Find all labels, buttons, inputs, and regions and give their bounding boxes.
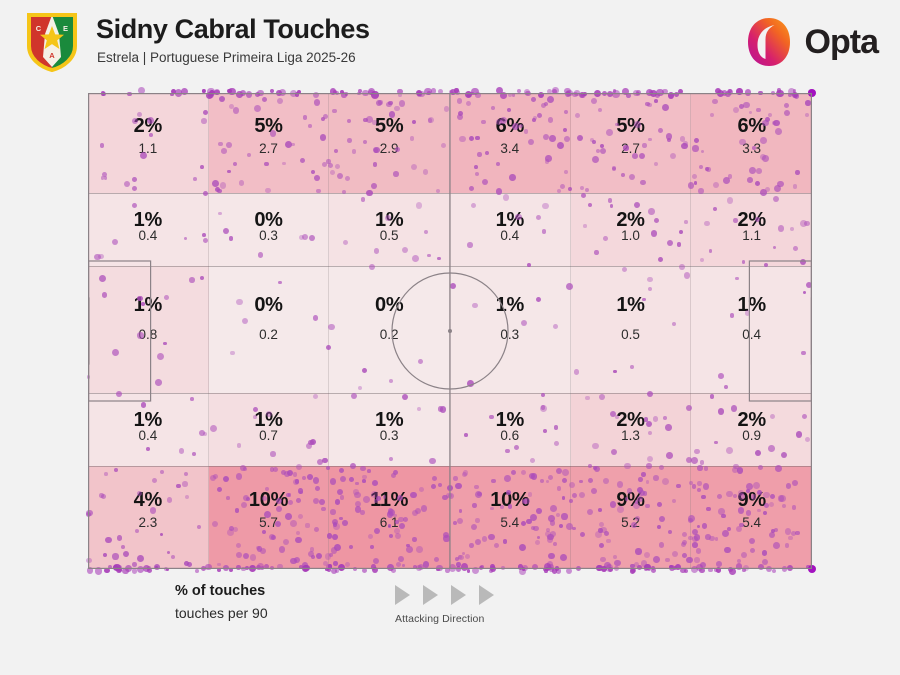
zone-percent: 9% — [691, 489, 812, 512]
zone-per90: 2.9 — [329, 141, 449, 156]
zone-per90: 5.4 — [450, 515, 570, 530]
zone-cell: 5%2.7 — [209, 93, 330, 193]
touch-dot — [552, 568, 557, 573]
zone-per90: 0.3 — [329, 428, 449, 443]
zone-percent: 10% — [450, 489, 570, 512]
zone-per90: 5.4 — [691, 515, 812, 530]
touch-map-infographic: C E A Sidny Cabral Touches Estrela | Por… — [0, 0, 900, 675]
svg-text:C: C — [36, 24, 42, 33]
zone-percent: 1% — [691, 294, 812, 317]
zone-cell: 2%1.0 — [571, 193, 692, 266]
zone-cell: 1%0.6 — [450, 393, 571, 466]
zone-per90: 2.7 — [209, 141, 329, 156]
touch-dot — [684, 569, 688, 573]
zone-percent: 6% — [691, 115, 812, 138]
zone-per90: 6.1 — [329, 515, 449, 530]
zone-cell: 2%0.9 — [691, 393, 812, 466]
zone-cell: 9%5.4 — [691, 466, 812, 569]
zone-per90: 3.3 — [691, 141, 812, 156]
zone-cell: 2%1.1 — [88, 93, 209, 193]
zone-percent: 0% — [329, 294, 449, 317]
attacking-direction: Attacking Direction — [395, 585, 595, 625]
pitch-heatmap: 2%1.15%2.75%2.96%3.45%2.76%3.31%0.40%0.3… — [88, 93, 812, 569]
zone-cell: 1%0.4 — [691, 266, 812, 393]
page-subtitle: Estrela | Portuguese Primeira Liga 2025-… — [97, 50, 356, 65]
svg-text:E: E — [63, 24, 68, 33]
zone-per90: 2.3 — [88, 515, 208, 530]
svg-text:A: A — [49, 51, 55, 60]
touch-dot — [772, 569, 776, 573]
touch-dot — [556, 568, 561, 573]
opta-wordmark: Opta — [805, 23, 878, 62]
header: C E A Sidny Cabral Touches Estrela | Por… — [0, 0, 900, 88]
zone-percent: 1% — [88, 294, 208, 317]
zone-percent: 9% — [571, 489, 691, 512]
zone-per90: 0.6 — [450, 428, 570, 443]
zone-row-divider — [88, 466, 812, 467]
zone-cell: 0%0.2 — [329, 266, 450, 393]
zone-percent: 5% — [571, 115, 691, 138]
touch-dot — [777, 88, 781, 92]
touch-dot — [519, 568, 526, 575]
zone-cell: 2%1.3 — [571, 393, 692, 466]
arrow-right-icon — [395, 585, 410, 605]
zone-percent: 5% — [209, 115, 329, 138]
arrow-right-icon — [451, 585, 466, 605]
zone-percent: 6% — [450, 115, 570, 138]
arrow-right-icon — [479, 585, 494, 605]
zone-cell: 0%0.2 — [209, 266, 330, 393]
zone-per90: 0.4 — [450, 228, 570, 243]
zone-per90: 0.4 — [88, 428, 208, 443]
zone-row-divider — [88, 266, 812, 267]
zone-per90: 0.4 — [88, 228, 208, 243]
zone-cell: 1%0.5 — [329, 193, 450, 266]
zone-cell: 0%0.3 — [209, 193, 330, 266]
touch-dot — [489, 569, 493, 573]
touch-dot — [544, 569, 548, 573]
zone-per90: 2.7 — [571, 141, 691, 156]
zone-cell: 4%2.3 — [88, 466, 209, 569]
zone-cell: 1%0.4 — [88, 193, 209, 266]
club-crest-icon: C E A — [26, 12, 78, 72]
zone-cell: 5%2.9 — [329, 93, 450, 193]
zone-cell: 1%0.4 — [88, 393, 209, 466]
zone-percent: 10% — [209, 489, 329, 512]
touch-dot — [202, 89, 206, 93]
zone-cell: 6%3.4 — [450, 93, 571, 193]
touch-dot — [445, 568, 449, 572]
zone-percent: 5% — [329, 115, 449, 138]
zone-percent: 11% — [329, 489, 449, 512]
zone-grid: 2%1.15%2.75%2.96%3.45%2.76%3.31%0.40%0.3… — [88, 93, 812, 569]
zone-cell: 9%5.2 — [571, 466, 692, 569]
zone-cell: 1%0.4 — [450, 193, 571, 266]
zone-cell: 1%0.7 — [209, 393, 330, 466]
legend-secondary-label: touches per 90 — [175, 605, 268, 621]
touch-dot — [631, 568, 636, 573]
zone-per90: 0.9 — [691, 428, 812, 443]
zone-percent: 2% — [88, 115, 208, 138]
zone-cell: 1%0.3 — [329, 393, 450, 466]
zone-cell: 10%5.7 — [209, 466, 330, 569]
zone-percent: 0% — [209, 294, 329, 317]
zone-per90: 0.4 — [691, 327, 812, 342]
touch-dot — [335, 569, 339, 573]
attacking-direction-label: Attacking Direction — [395, 613, 595, 625]
zone-per90: 0.8 — [88, 327, 208, 342]
zone-per90: 1.1 — [88, 141, 208, 156]
touch-dot — [630, 568, 635, 573]
zone-per90: 5.2 — [571, 515, 691, 530]
zone-cell: 6%3.3 — [691, 93, 812, 193]
zone-per90: 3.4 — [450, 141, 570, 156]
zone-percent: 1% — [571, 294, 691, 317]
zone-cell: 5%2.7 — [571, 93, 692, 193]
direction-arrows — [395, 585, 595, 605]
zone-per90: 1.0 — [571, 228, 691, 243]
zone-percent: 4% — [88, 489, 208, 512]
legend: % of touches touches per 90 — [175, 583, 268, 621]
zone-cell: 1%0.3 — [450, 266, 571, 393]
zone-per90: 0.5 — [329, 228, 449, 243]
zone-per90: 0.3 — [450, 327, 570, 342]
opta-logo: Opta — [743, 16, 878, 68]
legend-primary-label: % of touches — [175, 583, 268, 599]
zone-per90: 0.5 — [571, 327, 691, 342]
zone-percent: 1% — [450, 294, 570, 317]
touch-dot — [467, 569, 471, 573]
zone-per90: 0.2 — [329, 327, 449, 342]
zone-cell: 2%1.1 — [691, 193, 812, 266]
zone-row-divider — [88, 193, 812, 194]
zone-per90: 5.7 — [209, 515, 329, 530]
arrow-right-icon — [423, 585, 438, 605]
page-title: Sidny Cabral Touches — [96, 14, 370, 45]
zone-cell: 10%5.4 — [450, 466, 571, 569]
zone-per90: 0.2 — [209, 327, 329, 342]
zone-cell: 1%0.5 — [571, 266, 692, 393]
opta-mark-icon — [743, 16, 795, 68]
zone-per90: 1.3 — [571, 428, 691, 443]
zone-row-divider — [88, 393, 812, 394]
zone-per90: 0.7 — [209, 428, 329, 443]
touch-dot — [195, 569, 199, 573]
zone-per90: 0.3 — [209, 228, 329, 243]
zone-per90: 1.1 — [691, 228, 812, 243]
zone-cell: 11%6.1 — [329, 466, 450, 569]
zone-cell: 1%0.8 — [88, 266, 209, 393]
